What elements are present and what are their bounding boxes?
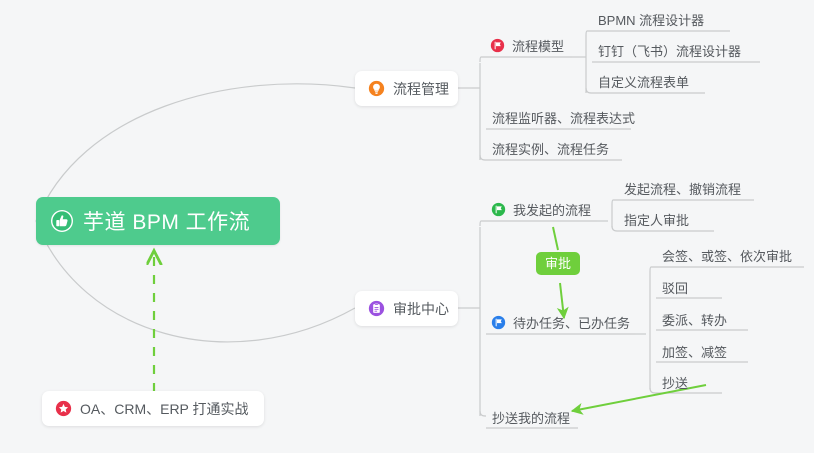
flag-icon-red	[490, 38, 505, 53]
link-daiban-spine-top	[650, 267, 656, 272]
link-shenpi-zhongxin-spine-top	[480, 221, 486, 226]
link-liucheng-guanli-spine-bottom	[480, 155, 486, 160]
link-liucheng-moxing-spine-bottom	[586, 88, 592, 93]
leaf-label-bpmn-designer: BPMN 流程设计器	[598, 10, 704, 29]
leaf-label-liucheng-shili: 流程实例、流程任务	[492, 139, 609, 158]
leaf-daiban-yiban[interactable]: 待办任务、已办任务	[491, 311, 630, 335]
branch-node-shenpi-zhongxin[interactable]: 审批中心	[355, 291, 458, 326]
thumbs-up-icon	[50, 209, 74, 233]
leaf-label-weipai-zhuanban: 委派、转办	[662, 310, 727, 329]
leaf-label-zhidingren-shenpi: 指定人审批	[624, 210, 689, 229]
leaf-zhidingren-shenpi[interactable]: 指定人审批	[624, 208, 689, 232]
mindmap-canvas: 芋道 BPM 工作流 流程管理 流程模型 BPMN 流程设计器 钉	[0, 0, 814, 453]
leaf-label-liucheng-jiantingqi: 流程监听器、流程表达式	[492, 108, 635, 127]
leaf-wofaqide-liucheng[interactable]: 我发起的流程	[491, 198, 591, 222]
leaf-liucheng-shili[interactable]: 流程实例、流程任务	[492, 137, 609, 161]
leaf-chaosong-wode-liucheng[interactable]: 抄送我的流程	[492, 406, 570, 430]
leaf-label-faqi-chexiao: 发起流程、撤销流程	[624, 179, 741, 198]
leaf-label-daiban-yiban: 待办任务、已办任务	[513, 313, 630, 332]
lightbulb-icon	[368, 80, 385, 97]
leaf-label-wofaqide-liucheng: 我发起的流程	[513, 200, 591, 219]
leaf-custom-form[interactable]: 自定义流程表单	[598, 70, 689, 94]
leaf-label-custom-form: 自定义流程表单	[598, 72, 689, 91]
link-liucheng-guanli-spine-top	[480, 57, 486, 62]
leaf-bohui[interactable]: 驳回	[662, 276, 688, 300]
root-label: 芋道 BPM 工作流	[83, 206, 250, 236]
leaf-label-huiqian-huoqian: 会签、或签、依次审批	[662, 246, 792, 265]
star-icon	[55, 400, 72, 417]
annotation-chip-shenpi: 审批	[536, 252, 580, 275]
link-daiban-spine-bottom	[650, 388, 656, 393]
leaf-huiqian-huoqian[interactable]: 会签、或签、依次审批	[662, 244, 792, 268]
flag-icon-green	[491, 202, 506, 217]
branch-node-liucheng-guanli[interactable]: 流程管理	[355, 71, 458, 106]
leaf-label-chaosong-wode-liucheng: 抄送我的流程	[492, 408, 570, 427]
leaf-liucheng-moxing[interactable]: 流程模型	[490, 34, 564, 58]
leaf-chaosong[interactable]: 抄送	[662, 371, 688, 395]
leaf-label-jiaqian-jianqian: 加签、减签	[662, 342, 727, 361]
branch-label-shenpi-zhongxin: 审批中心	[393, 299, 449, 319]
leaf-label-liucheng-moxing: 流程模型	[512, 36, 564, 55]
leaf-label-chaosong: 抄送	[662, 373, 688, 392]
leaf-bpmn-designer[interactable]: BPMN 流程设计器	[598, 8, 704, 32]
branch-label-liucheng-guanli: 流程管理	[393, 79, 449, 99]
annotation-chip-label: 审批	[545, 256, 571, 271]
leaf-liucheng-jiantingqi[interactable]: 流程监听器、流程表达式	[492, 106, 635, 130]
floating-label-oa-crm-erp: OA、CRM、ERP 打通实战	[80, 399, 249, 419]
link-liucheng-guanli-spine	[472, 63, 480, 160]
root-node[interactable]: 芋道 BPM 工作流	[36, 197, 280, 245]
link-wofaqide-spine-top	[612, 200, 618, 205]
leaf-label-bohui: 驳回	[662, 278, 688, 297]
leaf-jiaqian-jianqian[interactable]: 加签、减签	[662, 340, 727, 364]
link-liucheng-moxing-spine-top	[586, 31, 592, 36]
clipboard-icon	[368, 300, 385, 317]
leaf-weipai-zhuanban[interactable]: 委派、转办	[662, 308, 727, 332]
leaf-dingding-designer[interactable]: 钉钉（飞书）流程设计器	[598, 39, 741, 63]
floating-node-oa-crm-erp[interactable]: OA、CRM、ERP 打通实战	[42, 391, 264, 426]
flag-icon-blue	[491, 315, 506, 330]
arrow-shenpi-flow	[553, 227, 558, 250]
link-shenpi-zhongxin-spine-bottom	[480, 411, 486, 416]
leaf-faqi-chexiao[interactable]: 发起流程、撤销流程	[624, 177, 741, 201]
leaf-label-dingding-designer: 钉钉（飞书）流程设计器	[598, 41, 741, 60]
link-wofaqide-spine-bottom	[612, 226, 618, 231]
link-shenpi-zhongxin-spine	[472, 227, 480, 416]
